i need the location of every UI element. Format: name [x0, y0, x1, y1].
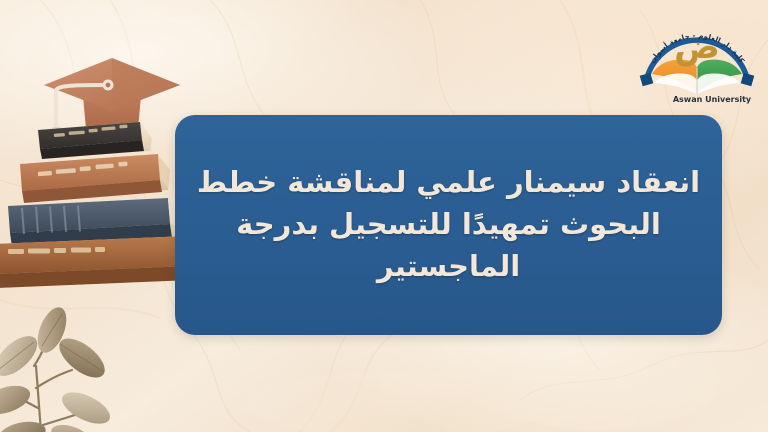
announcement-line-2: البحوث تمهيدًا للتسجيل بدرجة — [197, 204, 700, 246]
aswan-university-logo: كلية دار العلوم - جامعة أسوان ض Aswan Un… — [638, 6, 756, 106]
logo-english-name: Aswan University — [673, 95, 752, 104]
announcement-line-3: الماجستير — [197, 246, 700, 288]
logo-center-glyph: ض — [674, 27, 720, 67]
announcement-line-1: انعقاد سيمنار علمي لمناقشة خطط — [197, 162, 700, 204]
announcement-text: انعقاد سيمنار علمي لمناقشة خطط البحوث تم… — [197, 162, 700, 287]
poster-canvas: انعقاد سيمنار علمي لمناقشة خطط البحوث تم… — [0, 0, 768, 432]
announcement-banner: انعقاد سيمنار علمي لمناقشة خطط البحوث تم… — [175, 115, 722, 335]
leaf-sprig-icon — [0, 296, 146, 432]
